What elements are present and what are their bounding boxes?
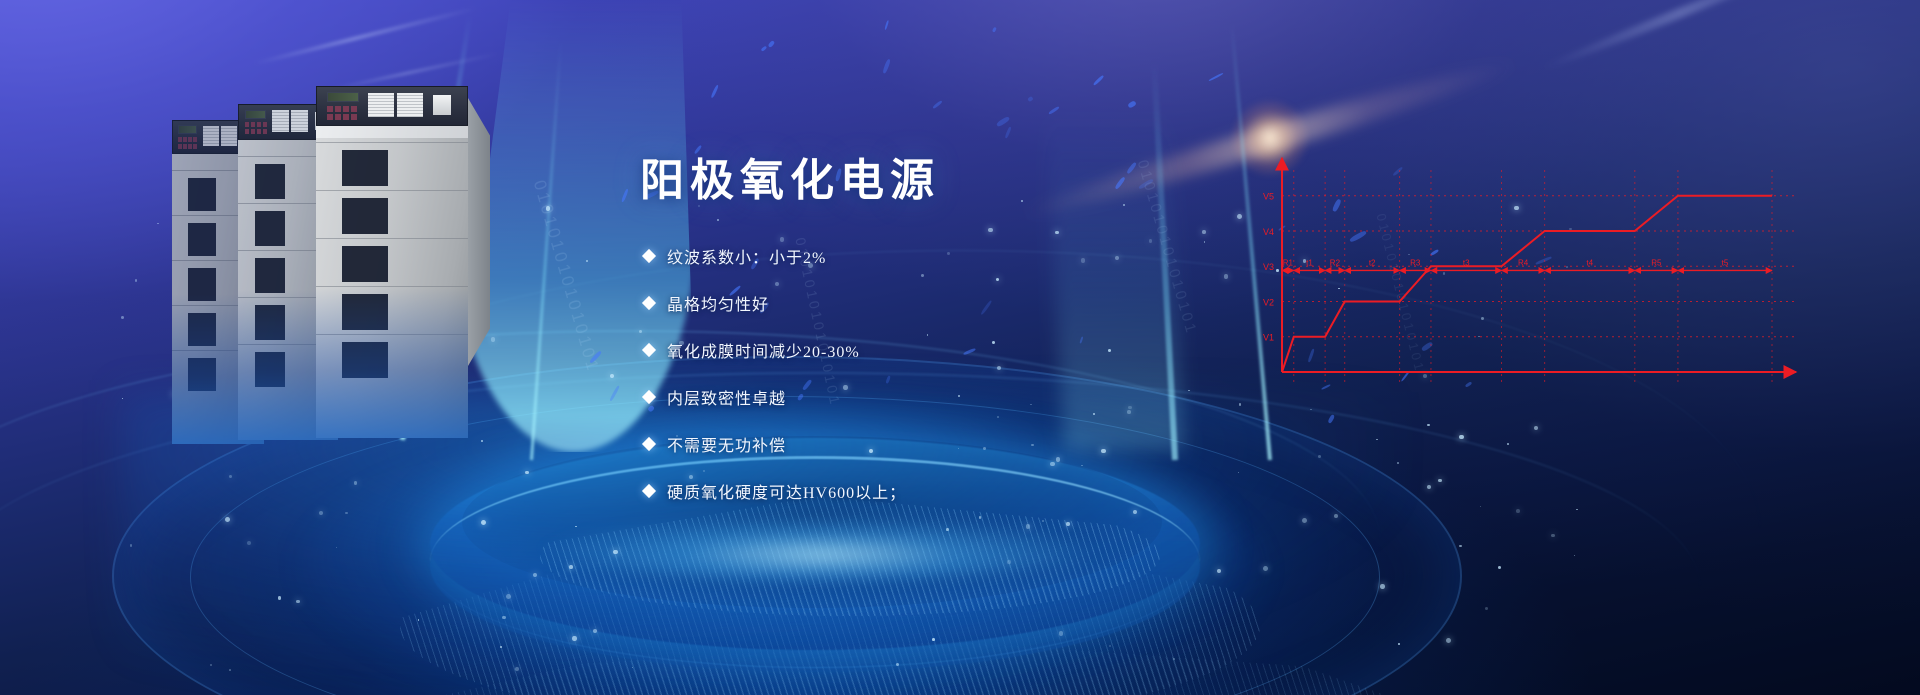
particle-dot	[1224, 274, 1229, 279]
chart-ramp-label: R2	[1330, 258, 1341, 267]
page-title: 阳极氧化电源	[640, 144, 940, 208]
particle-shard	[1027, 96, 1034, 102]
particle-dot	[1007, 560, 1010, 563]
particle-shard	[767, 40, 775, 48]
particle-shard	[996, 115, 1011, 127]
particle-dot	[1093, 413, 1095, 415]
cabinet-fade	[316, 288, 468, 438]
particle-shard	[589, 350, 602, 364]
particle-dot	[1480, 506, 1481, 507]
particle-dot	[1081, 258, 1086, 263]
particle-dot	[1398, 643, 1400, 645]
diamond-bullet-icon	[642, 483, 656, 497]
particle-dot	[319, 511, 323, 515]
particle-dot	[121, 316, 124, 319]
cabinet-vent-panel	[342, 150, 388, 186]
cabinet-keypad-key	[335, 106, 341, 112]
cabinet-meter	[433, 95, 451, 115]
particle-dot	[1217, 569, 1221, 573]
particle-dot	[336, 547, 338, 549]
particle-dot	[1498, 566, 1501, 569]
chart-voltage-step-line	[1282, 196, 1772, 372]
cabinet-seam	[316, 238, 468, 239]
particle-dot	[1059, 631, 1064, 636]
diamond-bullet-icon	[642, 295, 656, 309]
chart-hold-label: t2	[1369, 258, 1376, 267]
binary-stream: 0101010101010101	[529, 178, 603, 375]
chart-y-tick-label: V1	[1263, 333, 1274, 343]
chart-hold-label: t5	[1722, 258, 1729, 267]
voltage-step-chart-svg: V1V2V3V4V5R1t1R2t2R3t3R4t4R5t5	[1240, 150, 1800, 410]
particle-dot	[1109, 645, 1111, 647]
chart-y-tick-label: V5	[1263, 192, 1274, 202]
chart-y-tick-label: V2	[1263, 297, 1274, 307]
particle-dot	[247, 541, 251, 545]
particle-dot	[1238, 472, 1239, 473]
list-item-label: 硬质氧化硬度可达HV600以上；	[667, 479, 906, 503]
particle-shard	[710, 84, 719, 98]
particle-shard	[1080, 337, 1084, 344]
chart-hold-label: t4	[1586, 258, 1593, 267]
particle-dot	[1263, 566, 1268, 571]
list-item-label: 内层致密性卓越	[667, 385, 786, 409]
particle-dot	[1438, 479, 1442, 483]
voltage-step-chart: V1V2V3V4V5R1t1R2t2R3t3R4t4R5t5	[1240, 150, 1800, 410]
particle-dot	[506, 594, 511, 599]
particle-shard	[884, 20, 889, 30]
cabinet-keypad-key	[351, 114, 357, 120]
particle-dot	[500, 646, 502, 648]
particle-dot	[525, 471, 528, 474]
particle-dot	[632, 667, 633, 668]
particle-dot	[1485, 607, 1488, 610]
particle-shard	[1126, 162, 1137, 175]
particle-dot	[932, 638, 935, 641]
cabinet-keypad-key	[327, 114, 333, 120]
diamond-bullet-icon	[642, 436, 656, 450]
particle-dot	[1427, 424, 1430, 427]
particle-shard	[1115, 176, 1127, 190]
podium-hatch-arc	[300, 630, 1480, 695]
feature-bullet-list: 纹波系数小：小于2% 晶格均匀性好 氧化成膜时间减少20-30% 内层致密性卓越…	[644, 232, 1064, 514]
particle-dot	[1202, 230, 1206, 234]
particle-dot	[122, 398, 123, 399]
particle-dot	[1574, 555, 1575, 556]
list-item: 内层致密性卓越	[644, 373, 1064, 420]
list-item: 硬质氧化硬度可达HV600以上；	[644, 467, 1064, 514]
particle-dot	[296, 600, 300, 604]
particle-shard	[992, 27, 997, 33]
particle-dot	[1026, 524, 1031, 529]
particle-dot	[229, 669, 231, 671]
particle-dot	[1551, 534, 1555, 538]
particle-dot	[1066, 522, 1069, 525]
particle-dot	[610, 374, 614, 378]
particle-dot	[639, 330, 643, 334]
particle-shard	[761, 45, 768, 52]
particle-dot	[1427, 485, 1432, 490]
particle-dot	[491, 337, 496, 342]
particle-dot	[575, 526, 576, 527]
particle-dot	[130, 544, 133, 547]
particle-dot	[1081, 465, 1083, 467]
particle-dot	[135, 279, 137, 281]
podium-highlight	[540, 516, 1100, 580]
particle-shard	[610, 385, 620, 401]
light-streak-icon	[253, 6, 477, 66]
particle-dot	[1516, 509, 1520, 513]
diamond-bullet-icon	[642, 248, 656, 262]
cabinet-seam	[316, 142, 468, 143]
list-item-label: 氧化成膜时间减少20-30%	[667, 338, 860, 362]
list-item-label: 不需要无功补偿	[667, 432, 786, 456]
particle-dot	[946, 528, 949, 531]
particle-dot	[1108, 349, 1111, 352]
particle-dot	[572, 636, 576, 640]
particle-dot	[481, 520, 486, 525]
particle-shard	[1005, 126, 1012, 138]
particle-shard	[882, 58, 891, 74]
cabinet-seam	[316, 190, 468, 191]
particle-dot	[717, 219, 719, 221]
particle-dot	[533, 573, 537, 577]
cabinet-label-plate	[397, 93, 423, 117]
particle-shard	[1049, 106, 1060, 115]
list-item: 不需要无功补偿	[644, 420, 1064, 467]
cabinet-keypad-key	[343, 106, 349, 112]
particle-shard	[1093, 75, 1104, 86]
particle-dot	[1101, 449, 1106, 454]
list-item-label: 晶格均匀性好	[667, 291, 769, 315]
cabinet-side-face	[468, 98, 490, 366]
particle-dot	[1149, 239, 1153, 243]
particle-dot	[979, 516, 981, 518]
particle-dot	[345, 512, 347, 514]
particle-dot	[896, 663, 899, 666]
particle-dot	[502, 616, 505, 619]
chart-y-tick-label: V4	[1263, 227, 1274, 237]
particle-dot	[1302, 518, 1307, 523]
chart-hold-label: t3	[1463, 258, 1470, 267]
cabinet-vent-panel	[342, 246, 388, 282]
cabinet-keypad-key	[351, 106, 357, 112]
particle-shard	[1208, 72, 1223, 81]
chart-ramp-label: R4	[1518, 258, 1529, 267]
particle-dot	[1021, 200, 1023, 202]
cabinet-keypad-key	[327, 106, 333, 112]
list-item: 纹波系数小：小于2%	[644, 232, 1064, 279]
secondary-flare-icon	[1539, 0, 1821, 74]
particle-dot	[569, 565, 573, 569]
podium-hatch-arc	[540, 496, 1160, 616]
particle-dot	[1123, 204, 1125, 206]
particle-shard	[1127, 100, 1136, 108]
particle-dot	[418, 619, 419, 620]
particle-dot	[1188, 390, 1189, 391]
particle-dot	[157, 223, 158, 224]
light-beam	[1151, 60, 1178, 460]
particle-dot	[1446, 638, 1451, 643]
particle-dot	[1397, 462, 1399, 464]
particle-dot	[210, 664, 212, 666]
particle-shard	[621, 189, 629, 203]
anodizing-power-supply-cabinets	[170, 80, 490, 500]
particle-dot	[1318, 455, 1321, 458]
particle-dot	[1376, 439, 1378, 441]
cabinet-display-screen	[327, 92, 359, 102]
cabinet-seam	[316, 286, 468, 287]
cabinet-keypad-key	[343, 114, 349, 120]
particle-dot	[613, 550, 618, 555]
particle-dot	[1115, 256, 1119, 260]
diamond-bullet-icon	[642, 342, 656, 356]
particle-dot	[225, 517, 230, 522]
particle-dot	[586, 260, 588, 262]
particle-dot	[278, 596, 281, 599]
chart-ramp-label: R3	[1410, 258, 1421, 267]
particle-shard	[1138, 178, 1154, 190]
particle-shard	[932, 100, 943, 109]
list-item-label: 纹波系数小：小于2%	[667, 244, 826, 268]
cabinet-right	[316, 86, 468, 438]
chart-hold-label: t1	[1306, 258, 1313, 267]
particle-dot	[1173, 658, 1175, 660]
chart-ramp-label: R5	[1651, 258, 1662, 267]
cabinet-keypad-key	[335, 114, 341, 120]
particle-dot	[1534, 426, 1538, 430]
diamond-bullet-icon	[642, 389, 656, 403]
particle-dot	[1576, 509, 1578, 511]
cabinet-vent-panel	[342, 198, 388, 234]
particle-dot	[1459, 545, 1462, 548]
particle-dot	[1204, 241, 1206, 243]
particle-dot	[1380, 584, 1385, 589]
light-beam	[1046, 110, 1184, 450]
particle-shard	[1327, 414, 1335, 424]
particle-dot	[515, 667, 519, 671]
particle-dot	[1507, 443, 1509, 445]
list-item: 氧化成膜时间减少20-30%	[644, 326, 1064, 373]
particle-dot	[1128, 406, 1132, 410]
particle-dot	[1459, 435, 1464, 440]
particle-dot	[546, 206, 551, 211]
list-item: 晶格均匀性好	[644, 279, 1064, 326]
chart-y-tick-label: V3	[1263, 262, 1274, 272]
binary-stream: 0101010101010101	[1134, 158, 1200, 337]
cabinet-label-plate	[368, 93, 394, 117]
particle-dot	[1127, 410, 1131, 414]
light-beam	[530, 41, 562, 460]
banner-stage: 0101010101010101010101010101010101010101…	[0, 0, 1920, 695]
particle-dot	[1334, 514, 1338, 518]
chart-ramp-label: R1	[1283, 258, 1294, 267]
particle-dot	[1042, 520, 1044, 522]
particle-dot	[1133, 510, 1137, 514]
podium-hatch-arc	[400, 526, 1260, 695]
particle-dot	[593, 629, 597, 633]
